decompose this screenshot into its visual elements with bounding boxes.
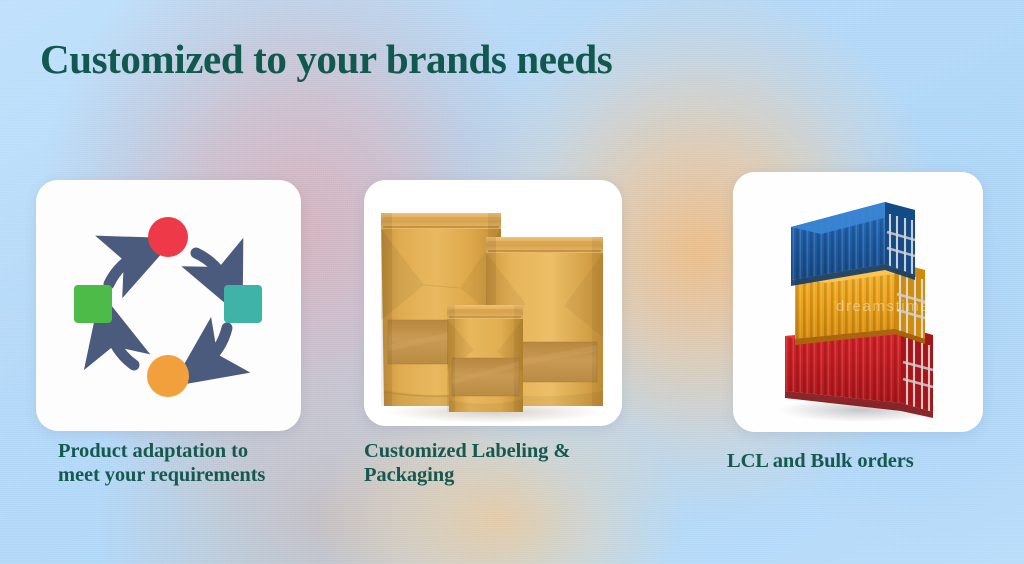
caption-line: Customized Labeling & xyxy=(364,440,634,464)
shipping-containers-image: dreamstime xyxy=(733,172,983,432)
cycle-arrow-4 xyxy=(109,328,134,365)
cycle-node-top-circle xyxy=(148,217,188,257)
kraft-pouches-image xyxy=(364,180,622,426)
caption-line: Product adaptation to xyxy=(58,440,328,464)
caption-lcl-bulk-orders: LCL and Bulk orders xyxy=(727,450,997,474)
caption-product-adaptation: Product adaptation to meet your requirem… xyxy=(58,440,328,488)
caption-line: Packaging xyxy=(364,464,634,488)
page-title: Customized to your brands needs xyxy=(40,35,612,83)
cycle-node-left-square xyxy=(74,285,112,323)
slide-canvas: Customized to your brands needs xyxy=(0,0,1024,564)
caption-customized-labeling: Customized Labeling & Packaging xyxy=(364,440,634,488)
card-lcl-bulk-orders[interactable]: dreamstime xyxy=(733,172,983,432)
small-pouch xyxy=(447,305,523,412)
watermark-text: dreamstime xyxy=(836,298,930,315)
cycle-arrow-3 xyxy=(202,328,227,365)
cycle-arrow-1 xyxy=(109,253,141,284)
cycle-node-right-square xyxy=(224,285,262,323)
cycle-diagram-icon xyxy=(36,180,301,431)
cycle-node-bottom-circle xyxy=(147,355,189,397)
caption-line: meet your requirements xyxy=(58,464,328,488)
card-product-adaptation[interactable] xyxy=(36,180,301,431)
cycle-arrow-2 xyxy=(196,253,227,284)
card-customized-labeling[interactable] xyxy=(364,180,622,426)
caption-line: LCL and Bulk orders xyxy=(727,450,997,474)
